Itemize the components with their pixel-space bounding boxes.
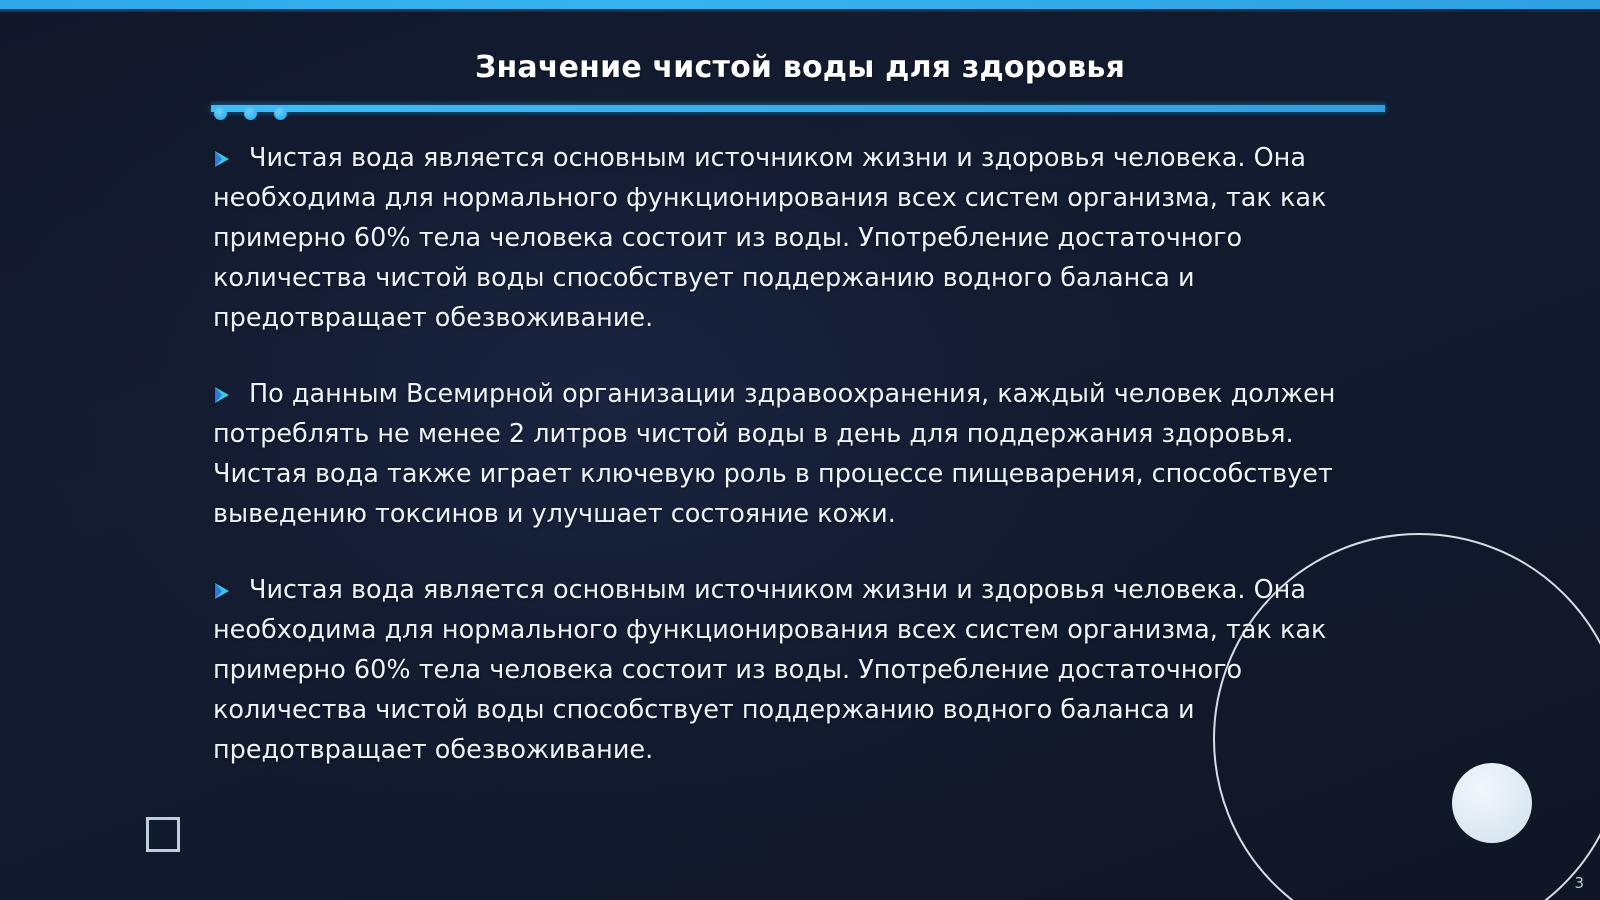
title-divider-dots: [214, 107, 287, 120]
decorative-square-outline: [146, 817, 180, 852]
title-divider: [211, 101, 1385, 123]
bullet-paragraph: Чистая вода является основным источником…: [213, 570, 1348, 770]
divider-dot-icon: [244, 107, 257, 120]
triangle-bullet-icon: [215, 387, 229, 403]
divider-dot-icon: [214, 107, 227, 120]
triangle-bullet-icon: [215, 583, 229, 599]
bullet-text: По данным Всемирной организации здравоох…: [213, 379, 1335, 529]
triangle-bullet-icon: [215, 151, 229, 167]
title-divider-accent-line: [211, 105, 1385, 112]
bullet-paragraph: Чистая вода является основным источником…: [213, 138, 1348, 338]
top-accent-stripe: [0, 0, 1600, 9]
bullet-paragraph: По данным Всемирной организации здравоох…: [213, 374, 1348, 534]
title-divider-under-line: [211, 112, 1385, 115]
bullet-text: Чистая вода является основным источником…: [213, 575, 1326, 765]
divider-dot-icon: [274, 107, 287, 120]
decorative-filled-circle: [1452, 763, 1532, 843]
presentation-slide: Значение чистой воды для здоровья Чистая…: [0, 0, 1600, 900]
bullet-text: Чистая вода является основным источником…: [213, 143, 1326, 333]
top-accent-stripe-shadow: [0, 9, 1600, 12]
slide-body: Чистая вода является основным источником…: [213, 138, 1348, 770]
page-number: 3: [1574, 874, 1584, 892]
page-title: Значение чистой воды для здоровья: [0, 50, 1600, 85]
